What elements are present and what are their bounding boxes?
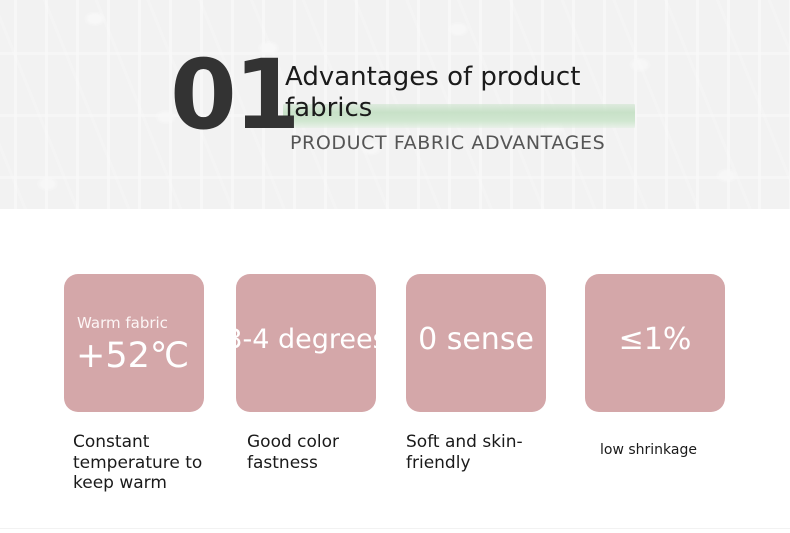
stat-card-low-shrinkage: ≤1% [585,274,725,412]
stat-card-soft-skin-friendly: 0 sense [406,274,546,412]
stat-card-value: ≤1% [585,322,725,357]
page-subtitle: PRODUCT FABRIC ADVANTAGES [290,132,605,154]
stat-card-small-label: Warm fabric [77,314,168,332]
bottom-divider [0,528,790,529]
section-number: 01 [170,47,298,143]
page-title: Advantages of product fabrics [285,62,615,123]
stat-card-value: +52℃ [76,336,189,376]
stat-card-value: 0 sense [406,322,546,357]
heading-group: 01 Advantages of product fabrics PRODUCT… [0,0,790,209]
stat-card-caption: low shrinkage [600,442,750,459]
stat-card-caption: Good color fastness [247,432,387,473]
stat-cards-row: Warm fabric +52℃ 3-4 degrees 0 sense ≤1% [0,274,790,412]
stat-card-color-fastness: 3-4 degrees [236,274,376,412]
stat-card-value: 3-4 degrees [236,324,376,355]
captions-row: Constant temperature to keep warm Good c… [0,432,790,502]
stat-card-caption: Constant temperature to keep warm [73,432,213,494]
stat-card-caption: Soft and skin-friendly [406,432,551,473]
stat-card-warm-fabric: Warm fabric +52℃ [64,274,204,412]
